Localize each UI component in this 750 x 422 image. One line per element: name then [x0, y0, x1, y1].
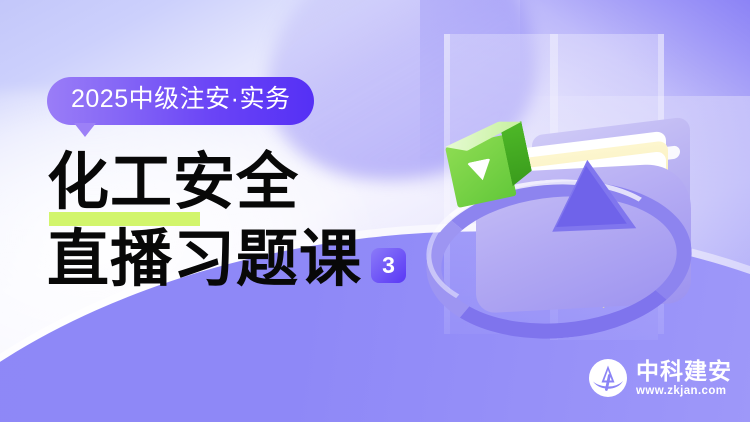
course-tag-wrapper: 2025中级注安·实务 [47, 77, 314, 125]
brand-name: 中科建安 [636, 359, 732, 384]
course-tag-pill: 2025中级注安·实务 [47, 77, 314, 125]
play-cube [442, 116, 542, 216]
title-row-2: 直播习题课 3 [47, 229, 406, 292]
episode-number-badge: 3 [371, 248, 406, 283]
zkjan-logo-icon [588, 358, 628, 398]
course-banner: 2025中级注安·实务 化工安全 直播习题课 3 中科建安 www.zkjan.… [0, 0, 750, 422]
course-title-line-1: 化工安全 [47, 152, 299, 215]
title-row-1: 化工安全 [47, 152, 406, 215]
course-tag-pointer [74, 123, 96, 137]
brand-logo-text: 中科建安 www.zkjan.com [636, 359, 732, 398]
brand-url: www.zkjan.com [636, 385, 732, 397]
title-block: 化工安全 直播习题课 3 [47, 152, 406, 292]
brand-logo: 中科建安 www.zkjan.com [588, 358, 732, 398]
course-tag-label: 2025中级注安·实务 [71, 85, 290, 113]
course-title-line-2: 直播习题课 [47, 229, 362, 292]
illustration [418, 0, 750, 368]
